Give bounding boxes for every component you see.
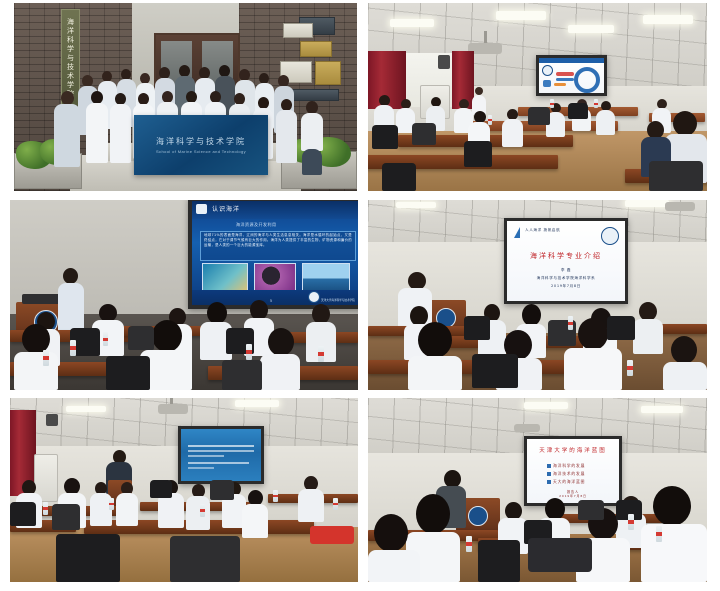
slide-title: 认识海洋: [212, 204, 240, 213]
water-bottle: [43, 350, 49, 366]
water-bottle: [333, 498, 338, 510]
student-seated: [502, 109, 523, 147]
slide-bullet: 海洋科学的发展: [553, 463, 585, 469]
wall-plaque-building: [283, 23, 313, 38]
bullet-marker-icon: [547, 472, 551, 476]
chair: [528, 107, 550, 125]
bullet-marker-icon: [547, 464, 551, 468]
water-bottle: [200, 504, 205, 517]
person-front-row: [276, 99, 297, 163]
slide-university-logo: [308, 291, 320, 303]
person-front-row: [54, 91, 80, 167]
ceiling-light: [568, 25, 614, 33]
student-foreground: [641, 486, 707, 582]
chair: [10, 502, 36, 526]
water-bottle: [594, 99, 598, 108]
water-bottle: [627, 360, 633, 376]
slide-diagram: [539, 58, 604, 93]
chair: [472, 354, 518, 388]
student-seated: [596, 101, 615, 135]
water-bottle: [318, 346, 324, 362]
photo-lecture-know-the-ocean[interactable]: 认识海洋 海洋资源及开发利用 地球71%的表面是海洋，辽阔的海洋与人类生活息息相…: [10, 200, 358, 390]
wall-speaker: [438, 55, 450, 69]
chair: [607, 316, 635, 340]
slide-thumbnail-nodules: [254, 263, 296, 291]
chair: [478, 540, 520, 582]
chair: [568, 103, 588, 119]
water-bottle: [273, 490, 278, 502]
photo-group-entrance[interactable]: 海洋科学与技术学院: [14, 3, 357, 191]
slide-bullet: 天大的海洋蓝图: [553, 479, 585, 485]
chair: [382, 163, 416, 191]
ceiling-light: [396, 202, 436, 208]
wall-plaque-gold: [300, 41, 332, 57]
water-bottle: [466, 536, 472, 552]
chair: [222, 360, 262, 390]
slide-title: 天津大学的海洋蓝图: [527, 446, 619, 454]
slide-title: 海洋科学专业介绍: [507, 251, 625, 261]
backpack: [528, 538, 592, 572]
slide-thumbnail-ship: [302, 263, 350, 291]
slide-date: 2019年7月8日: [507, 284, 625, 289]
student-foreground: [663, 336, 707, 390]
slide-header-icon: [196, 204, 207, 214]
podium-emblem: [468, 506, 488, 526]
slide-tju-ocean: 天津大学的海洋蓝图 海洋科学的发展 海洋技术的发展 天大的海洋蓝图 报告人 20…: [527, 439, 619, 503]
person-standing-right: [301, 101, 323, 175]
water-bottle: [43, 502, 48, 515]
student-seated: [633, 302, 663, 354]
ceiling-light: [235, 400, 279, 407]
banner-text-cn: 海洋科学与技术学院: [156, 136, 246, 147]
photo-collage: 海洋科学与技术学院: [0, 0, 720, 591]
projection-screen: 认识海洋 海洋资源及开发利用 地球71%的表面是海洋，辽阔的海洋与人类生活息息相…: [188, 200, 358, 309]
ceiling-light: [524, 402, 568, 409]
water-bottle: [488, 115, 492, 125]
slide-know-the-ocean: 认识海洋 海洋资源及开发利用 地球71%的表面是海洋，辽阔的海洋与人类生活息息相…: [192, 201, 358, 305]
chair: [106, 356, 150, 390]
student-seated: [242, 490, 268, 538]
projection-screen: [178, 426, 264, 484]
ceiling-projector: [665, 202, 695, 211]
slide-subtitle: 海洋资源及开发利用: [236, 222, 277, 228]
chair: [128, 326, 154, 350]
student-seated: [116, 482, 138, 526]
water-bottle: [246, 344, 252, 360]
vertical-plaque-text: 海洋科学与技术学院: [66, 18, 76, 99]
water-bottle: [568, 316, 573, 330]
student-foreground: [14, 324, 58, 390]
projection-screen: [536, 55, 607, 96]
slide-paragraph: 地球71%的表面是海洋，辽阔的海洋与人类生活息息相关。海洋是水循环的起始点，又是…: [204, 233, 352, 248]
water-bottle: [109, 498, 114, 510]
chair: [464, 141, 492, 167]
chair: [210, 480, 234, 500]
student-foreground: [368, 514, 420, 582]
photo-lecture-tju-ocean[interactable]: 天津大学的海洋蓝图 海洋科学的发展 海洋技术的发展 天大的海洋蓝图 报告人 20…: [368, 398, 707, 582]
chair: [56, 534, 120, 582]
water-bottle: [70, 340, 76, 356]
student-seated: [186, 484, 210, 530]
wall-plaque-gold-2: [315, 61, 341, 85]
ceiling-light: [66, 406, 106, 412]
chair: [170, 536, 240, 582]
ceiling-light: [625, 200, 669, 207]
chair: [578, 500, 604, 520]
ceiling-projector: [514, 424, 540, 432]
chair: [372, 125, 398, 149]
red-bag: [310, 526, 354, 544]
slide-blue-text: [181, 429, 261, 481]
bullet-marker-icon: [547, 480, 551, 484]
ceiling-light: [496, 11, 546, 20]
ceiling-projector: [158, 404, 188, 414]
photo-lecture-major-intro[interactable]: 人人海洋 扬帆启航 海洋科学专业介绍 李 磊 海洋科学与技术学院海洋科学系 20…: [368, 200, 707, 390]
chair: [649, 161, 703, 191]
event-banner: 海洋科学与技术学院 School of Marine Science and T…: [134, 115, 268, 175]
slide-banner-text: 人人海洋 扬帆启航: [525, 228, 560, 233]
speaker: [58, 268, 84, 334]
water-bottle: [628, 514, 634, 530]
slide-bullet: 海洋技术的发展: [553, 471, 585, 477]
water-bottle: [550, 99, 554, 108]
projection-screen: 人人海洋 扬帆启航 海洋科学专业介绍 李 磊 海洋科学与技术学院海洋科学系 20…: [504, 218, 628, 304]
slide-footer-logo-text: 天津大学海洋科学与技术学院: [321, 298, 358, 302]
slide-affiliation: 海洋科学与技术学院海洋科学系: [507, 276, 625, 281]
person-front-row: [86, 91, 108, 163]
banner-text-en: School of Marine Science and Technology: [156, 149, 246, 154]
sailboat-icon: [514, 227, 520, 238]
photo-lecture-blue-slide[interactable]: [10, 398, 358, 582]
photo-lecture-hall-overview[interactable]: [368, 3, 707, 191]
wall-speaker: [46, 414, 58, 426]
projection-screen: 天津大学的海洋蓝图 海洋科学的发展 海洋技术的发展 天大的海洋蓝图 报告人 20…: [524, 436, 622, 506]
water-bottle: [103, 332, 108, 346]
ceiling-light: [643, 15, 693, 24]
slide-major-intro: 人人海洋 扬帆启航 海洋科学专业介绍 李 磊 海洋科学与技术学院海洋科学系 20…: [507, 221, 625, 301]
slide-presenter: 李 磊: [507, 268, 625, 273]
water-bottle: [656, 526, 662, 542]
student-foreground: [408, 322, 462, 390]
slide-university-logo: [601, 227, 619, 245]
ceiling-light: [390, 19, 434, 27]
chair: [52, 504, 80, 530]
chair: [412, 123, 436, 145]
chair: [150, 480, 172, 498]
student-foreground: [260, 328, 300, 390]
slide-thumbnail-coral: [202, 263, 248, 291]
person-front-row: [110, 93, 131, 163]
ceiling-light: [641, 406, 683, 413]
student-seated: [298, 476, 324, 522]
chair: [464, 316, 490, 340]
